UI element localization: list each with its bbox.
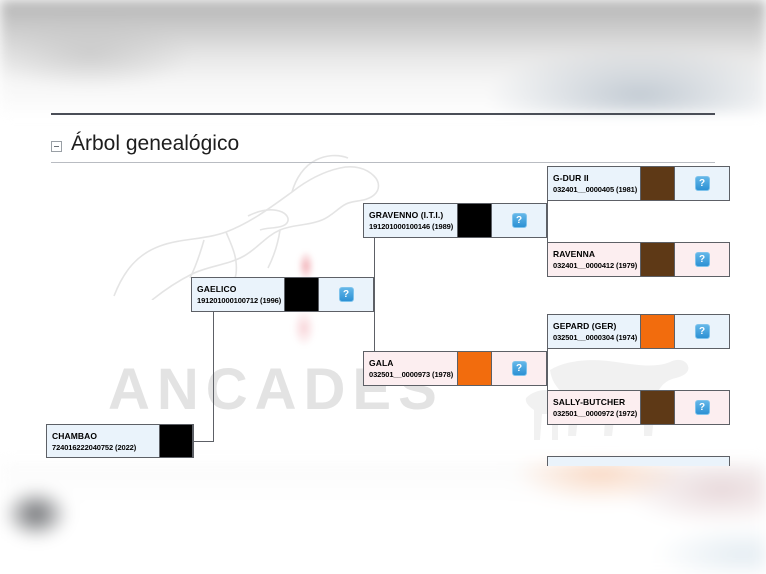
horse-name: CHAMBAO	[52, 431, 159, 441]
help-question-icon[interactable]: ?	[339, 287, 354, 302]
connector-chambao-gaelico-v	[213, 294, 214, 442]
minus-box-icon[interactable]	[51, 141, 62, 152]
help-cell: ?	[674, 315, 729, 348]
horse-name: GRAVENNO (I.T.I.)	[369, 210, 457, 220]
node-info: SALLY-BUTCHER 032501__0000972 (1972)	[548, 391, 640, 424]
horse-name: G-DUR II	[553, 173, 640, 183]
node-info: GAELICO 191201000100712 (1996)	[192, 278, 284, 311]
horse-id: 191201000100146 (1989)	[369, 222, 457, 231]
pedigree-node-sally-butcher[interactable]: SALLY-BUTCHER 032501__0000972 (1972) ?	[547, 390, 730, 425]
horse-id: 032501__0000304 (1974)	[553, 333, 640, 342]
pedigree-node-ravenna[interactable]: RAVENNA 032401__0000412 (1979) ?	[547, 242, 730, 277]
horse-name: SALLY-BUTCHER	[553, 397, 640, 407]
connector-gaelico-v	[374, 219, 375, 371]
horse-name: RAVENNA	[553, 249, 640, 259]
section-header: Árbol genealógico	[51, 126, 715, 160]
node-info: GEPARD (GER) 032501__0000304 (1974)	[548, 315, 640, 348]
horse-name: GEPARD (GER)	[553, 321, 640, 331]
pedigree-page: ANCADES Árbol genealógico CHAMBAO 724016…	[0, 0, 766, 574]
help-cell: ?	[491, 352, 546, 385]
pedigree-node-chambao[interactable]: CHAMBAO 724016222040752 (2022)	[46, 424, 194, 458]
horse-id: 032501__0000972 (1972)	[553, 409, 640, 418]
coat-color-swatch	[640, 243, 674, 276]
coat-color-swatch	[457, 352, 491, 385]
node-info: GALA 032501__0000973 (1978)	[364, 352, 457, 385]
pedigree-node-g-dur-ii[interactable]: G-DUR II 032401__0000405 (1981) ?	[547, 166, 730, 201]
help-cell: ?	[318, 278, 373, 311]
horse-name: GAELICO	[197, 284, 284, 294]
help-cell: ?	[674, 391, 729, 424]
coat-color-swatch	[159, 425, 193, 457]
header-divider-top	[51, 113, 715, 115]
pedigree-node-gravenno[interactable]: GRAVENNO (I.T.I.) 191201000100146 (1989)…	[363, 203, 547, 238]
pedigree-node-partial-cutoff[interactable]	[547, 456, 730, 466]
help-question-icon[interactable]: ?	[695, 324, 710, 339]
page-title: Árbol genealógico	[71, 133, 239, 154]
help-cell: ?	[674, 167, 729, 200]
coat-color-swatch	[284, 278, 318, 311]
blurred-top-chrome	[0, 0, 766, 113]
horse-id: 032401__0000405 (1981)	[553, 185, 640, 194]
node-info: G-DUR II 032401__0000405 (1981)	[548, 167, 640, 200]
coat-color-swatch	[457, 204, 491, 237]
node-info: GRAVENNO (I.T.I.) 191201000100146 (1989)	[364, 204, 457, 237]
pedigree-node-gaelico[interactable]: GAELICO 191201000100712 (1996) ?	[191, 277, 374, 312]
help-cell: ?	[491, 204, 546, 237]
help-question-icon[interactable]: ?	[695, 252, 710, 267]
blurred-bottom-chrome	[0, 462, 766, 574]
horse-id: 032501__0000973 (1978)	[369, 370, 457, 379]
coat-color-swatch	[640, 167, 674, 200]
horse-id: 724016222040752 (2022)	[52, 443, 159, 452]
connector-chambao-gaelico-h	[194, 441, 214, 442]
horse-name: GALA	[369, 358, 457, 368]
help-question-icon[interactable]: ?	[695, 176, 710, 191]
coat-color-swatch	[640, 315, 674, 348]
node-info: CHAMBAO 724016222040752 (2022)	[47, 425, 159, 457]
node-info: RAVENNA 032401__0000412 (1979)	[548, 243, 640, 276]
help-cell: ?	[674, 243, 729, 276]
help-question-icon[interactable]: ?	[512, 361, 527, 376]
coat-color-swatch	[640, 391, 674, 424]
pedigree-node-gala[interactable]: GALA 032501__0000973 (1978) ?	[363, 351, 547, 386]
horse-id: 032401__0000412 (1979)	[553, 261, 640, 270]
help-question-icon[interactable]: ?	[512, 213, 527, 228]
help-question-icon[interactable]: ?	[695, 400, 710, 415]
pedigree-node-gepard[interactable]: GEPARD (GER) 032501__0000304 (1974) ?	[547, 314, 730, 349]
header-divider-bottom	[51, 162, 715, 163]
horse-id: 191201000100712 (1996)	[197, 296, 284, 305]
